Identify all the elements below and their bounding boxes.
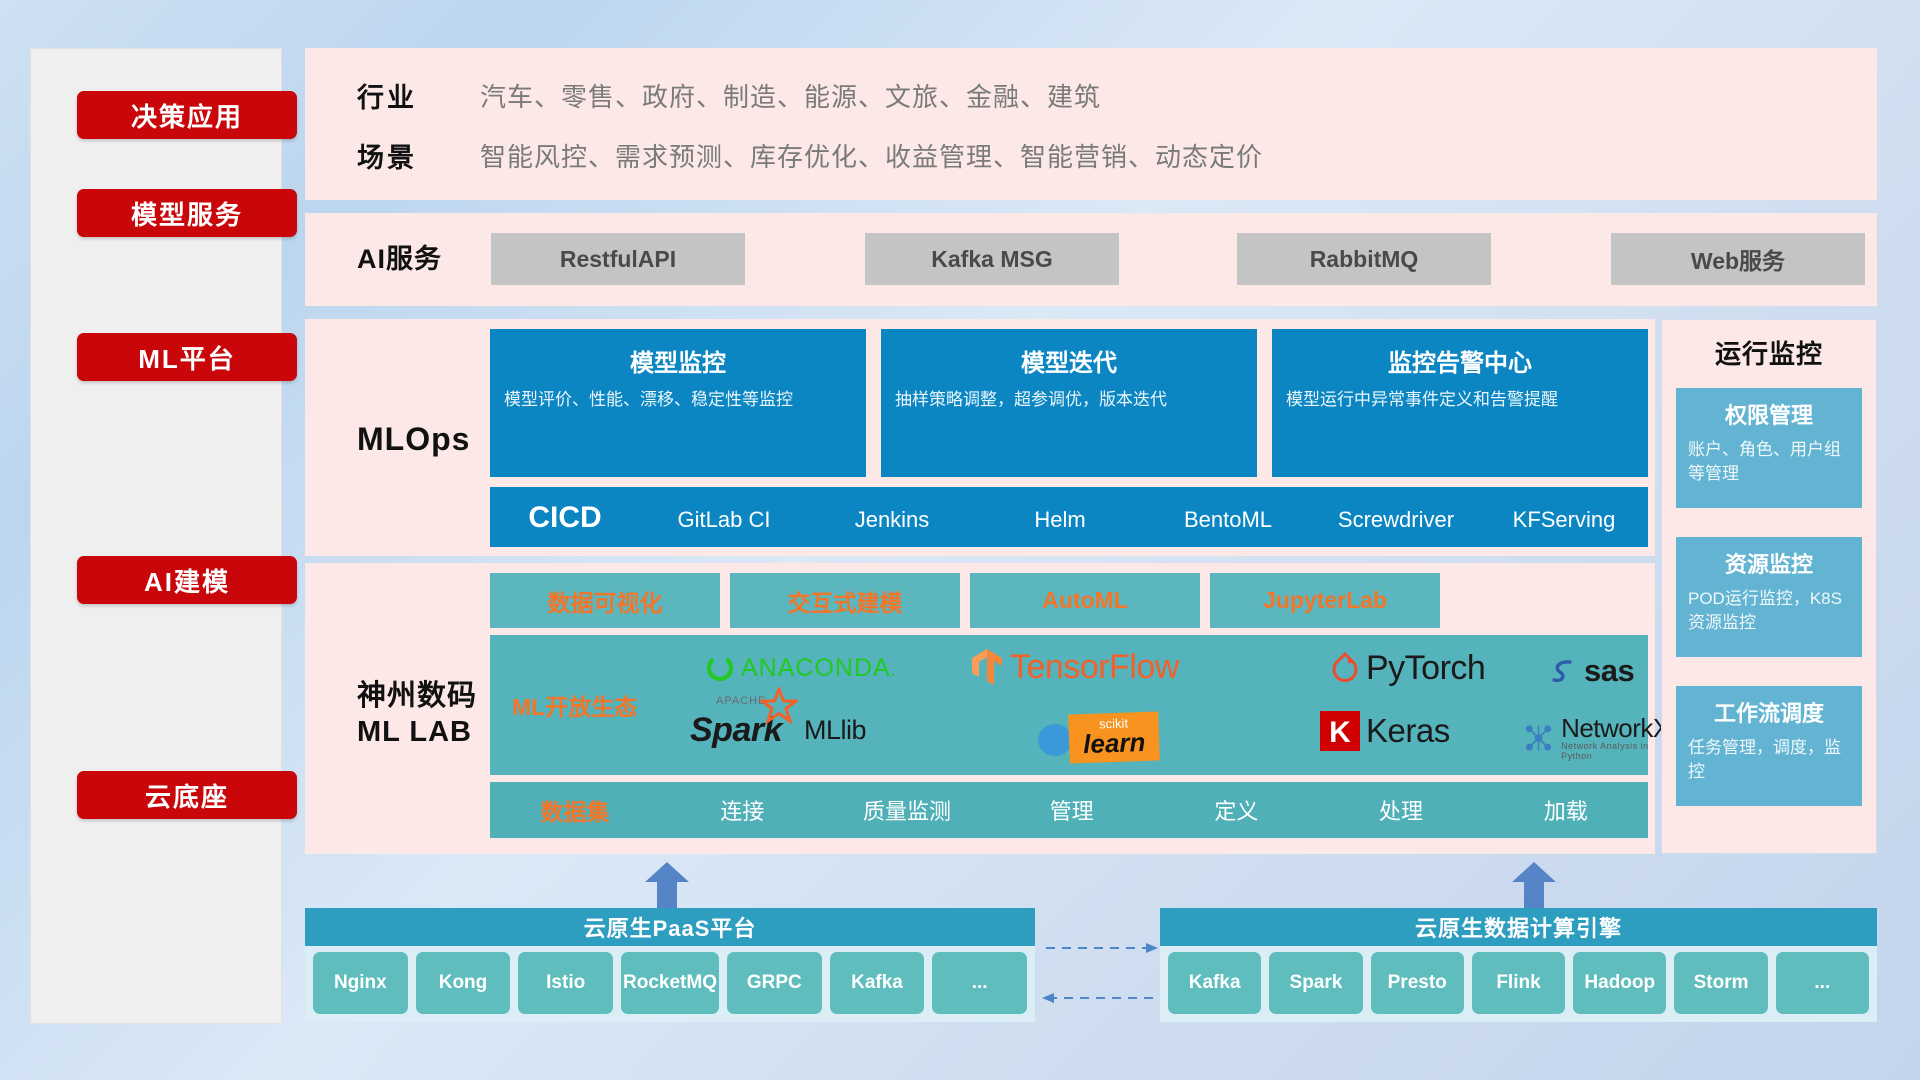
sas-logo-text: sas	[1584, 653, 1634, 689]
rail-chip-cloud-base[interactable]: 云底座	[77, 771, 297, 819]
dataset-item-define[interactable]: 定义	[1154, 794, 1319, 826]
cicd-label: CICD	[490, 487, 640, 535]
monitor-card-title: 权限管理	[1688, 398, 1850, 430]
mlops-card-desc: 抽样策略调整，超参调优，版本迭代	[895, 388, 1243, 413]
scenario-row-label: 场景	[357, 136, 417, 175]
service-box-restfulapi[interactable]: RestfulAPI	[491, 233, 745, 285]
paas-platform: 云原生PaaS平台 Nginx Kong Istio RocketMQ GRPC…	[305, 908, 1035, 1022]
paas-tag-rocketmq[interactable]: RocketMQ	[621, 952, 719, 1014]
cicd-tool-bentoml[interactable]: BentoML	[1144, 487, 1312, 535]
industry-row-label: 行业	[357, 76, 417, 115]
dataset-item-quality[interactable]: 质量监测	[825, 794, 990, 826]
mlops-card-title: 模型监控	[504, 343, 852, 378]
monitor-card-desc: 账户、角色、用户组等管理	[1688, 438, 1850, 486]
cicd-row: CICD GitLab CI Jenkins Helm BentoML Scre…	[490, 487, 1648, 547]
service-box-label: RestfulAPI	[560, 246, 676, 273]
mllib-logo-text: MLlib	[804, 715, 866, 746]
cicd-tool-helm[interactable]: Helm	[976, 487, 1144, 535]
chip-automl[interactable]: AutoML	[970, 573, 1200, 628]
keras-logo: K Keras	[1320, 711, 1450, 751]
bidirectional-dashed-link	[1040, 940, 1160, 1010]
ml-lab-label: 神州数码 ML LAB	[357, 678, 477, 751]
chip-label: JupyterLab	[1263, 587, 1387, 614]
chip-label: 数据可视化	[548, 584, 663, 618]
keras-logo-text: Keras	[1366, 712, 1450, 750]
rail-chip-label: ML平台	[138, 339, 236, 376]
apache-label: APACHE	[716, 695, 766, 707]
paas-tag-kong[interactable]: Kong	[416, 952, 511, 1014]
dataset-item-manage[interactable]: 管理	[989, 794, 1154, 826]
mlops-card-desc: 模型评价、性能、漂移、稳定性等监控	[504, 388, 852, 413]
ml-lab-label-line1: 神州数码	[357, 680, 477, 712]
paas-tag-nginx[interactable]: Nginx	[313, 952, 408, 1014]
data-engine-tag-list: Kafka Spark Presto Flink Hadoop Storm ..…	[1168, 952, 1869, 1014]
monitor-card-desc: 任务管理，调度，监控	[1688, 736, 1850, 784]
engine-tag-spark[interactable]: Spark	[1269, 952, 1362, 1014]
paas-tag-grpc[interactable]: GRPC	[727, 952, 822, 1014]
mlops-band: MLOps 模型监控 模型评价、性能、漂移、稳定性等监控 模型迭代 抽样策略调整…	[305, 319, 1655, 556]
engine-tag-flink[interactable]: Flink	[1472, 952, 1565, 1014]
scikit-learn-logo: scikit learn	[1035, 713, 1159, 762]
anaconda-logo: ANACONDA.	[705, 653, 897, 683]
chip-label: 交互式建模	[788, 584, 903, 618]
cicd-tool-kfserving[interactable]: KFServing	[1480, 487, 1648, 535]
runtime-monitor-title: 运行监控	[1662, 334, 1876, 371]
service-box-web[interactable]: Web服务	[1611, 233, 1865, 285]
ai-service-band: AI服务 RestfulAPI Kafka MSG RabbitMQ Web服务	[305, 213, 1877, 306]
chip-jupyterlab[interactable]: JupyterLab	[1210, 573, 1440, 628]
paas-tag-list: Nginx Kong Istio RocketMQ GRPC Kafka ...	[313, 952, 1027, 1014]
networkx-logo: NetworkX Network Analysis in Python	[1522, 715, 1673, 761]
engine-tag-presto[interactable]: Presto	[1371, 952, 1464, 1014]
service-box-label: Kafka MSG	[931, 246, 1052, 273]
tensorflow-logo-text: TensorFlow	[1010, 648, 1179, 687]
mlops-label: MLOps	[357, 419, 470, 459]
mlops-card-model-iteration[interactable]: 模型迭代 抽样策略调整，超参调优，版本迭代	[881, 329, 1257, 477]
pytorch-logo-text: PyTorch	[1366, 649, 1485, 688]
learn-text: learn	[1083, 730, 1146, 757]
ai-service-label: AI服务	[357, 243, 442, 277]
cicd-tool-gitlab-ci[interactable]: GitLab CI	[640, 487, 808, 535]
spark-mllib-logo: APACHE Spark MLlib	[690, 711, 866, 750]
rail-chip-ai-modeling[interactable]: AI建模	[77, 556, 297, 604]
mlops-card-alert-center[interactable]: 监控告警中心 模型运行中异常事件定义和告警提醒	[1272, 329, 1648, 477]
mlops-card-title: 模型迭代	[895, 343, 1243, 378]
mlops-card-desc: 模型运行中异常事件定义和告警提醒	[1286, 388, 1634, 413]
chip-interactive-modeling[interactable]: 交互式建模	[730, 573, 960, 628]
pytorch-logo: PyTorch	[1330, 649, 1485, 688]
monitor-card-title: 工作流调度	[1688, 696, 1850, 728]
dataset-item-connect[interactable]: 连接	[660, 794, 825, 826]
rail-chip-label: 决策应用	[131, 97, 243, 134]
chip-label: AutoML	[1042, 587, 1128, 614]
arrow-up-data-engine	[1512, 862, 1556, 913]
monitor-card-title: 资源监控	[1688, 547, 1850, 579]
engine-tag-kafka[interactable]: Kafka	[1168, 952, 1261, 1014]
data-engine-title: 云原生数据计算引擎	[1160, 908, 1877, 946]
cicd-tool-jenkins[interactable]: Jenkins	[808, 487, 976, 535]
monitor-card-resource[interactable]: 资源监控 POD运行监控，K8S资源监控	[1676, 537, 1862, 657]
networkx-logo-text: NetworkX	[1561, 715, 1673, 741]
rail-chip-ml-platform[interactable]: ML平台	[77, 333, 297, 381]
mlops-card-title: 监控告警中心	[1286, 343, 1634, 378]
scenario-row-value: 智能风控、需求预测、库存优化、收益管理、智能营销、动态定价	[480, 137, 1263, 174]
architecture-diagram: 决策应用 模型服务 ML平台 AI建模 云底座 行业 汽车、零售、政府、制造、能…	[0, 0, 1920, 1080]
paas-tag-more[interactable]: ...	[932, 952, 1027, 1014]
layer-rail: 决策应用 模型服务 ML平台 AI建模 云底座	[30, 48, 282, 1024]
rail-chip-model-service[interactable]: 模型服务	[77, 189, 297, 237]
arrow-up-paas	[645, 862, 689, 913]
paas-tag-istio[interactable]: Istio	[518, 952, 613, 1014]
monitor-card-desc: POD运行监控，K8S资源监控	[1688, 587, 1850, 635]
rail-chip-decision[interactable]: 决策应用	[77, 91, 297, 139]
ml-lab-label-line2: ML LAB	[357, 716, 472, 748]
svg-text:K: K	[1329, 716, 1351, 749]
chip-data-visualization[interactable]: 数据可视化	[490, 573, 720, 628]
dataset-label: 数据集	[490, 793, 660, 827]
rail-chip-label: 云底座	[145, 777, 229, 814]
tensorflow-logo: TensorFlow	[970, 647, 1179, 687]
dataset-item-process[interactable]: 处理	[1319, 794, 1484, 826]
service-box-kafka-msg[interactable]: Kafka MSG	[865, 233, 1119, 285]
mlops-card-model-monitoring[interactable]: 模型监控 模型评价、性能、漂移、稳定性等监控	[490, 329, 866, 477]
engine-tag-storm[interactable]: Storm	[1674, 952, 1767, 1014]
paas-tag-kafka[interactable]: Kafka	[830, 952, 925, 1014]
runtime-monitor-panel: 运行监控 权限管理 账户、角色、用户组等管理 资源监控 POD运行监控，K8S资…	[1661, 319, 1877, 854]
cicd-tool-screwdriver[interactable]: Screwdriver	[1312, 487, 1480, 535]
data-engine-platform: 云原生数据计算引擎 Kafka Spark Presto Flink Hadoo…	[1160, 908, 1877, 1022]
industry-row-value: 汽车、零售、政府、制造、能源、文旅、金融、建筑	[480, 77, 1101, 114]
monitor-card-permission[interactable]: 权限管理 账户、角色、用户组等管理	[1676, 388, 1862, 508]
anaconda-logo-text: ANACONDA.	[741, 654, 897, 683]
industry-band: 行业 汽车、零售、政府、制造、能源、文旅、金融、建筑 场景 智能风控、需求预测、…	[305, 48, 1877, 200]
service-box-rabbitmq[interactable]: RabbitMQ	[1237, 233, 1491, 285]
networkx-tagline: Network Analysis in Python	[1561, 741, 1673, 761]
service-box-label: RabbitMQ	[1310, 246, 1419, 273]
dataset-item-load[interactable]: 加载	[1483, 794, 1648, 826]
engine-tag-more[interactable]: ...	[1776, 952, 1869, 1014]
ml-open-ecosystem-label: ML开放生态	[512, 688, 637, 722]
rail-chip-label: AI建模	[144, 562, 230, 599]
ai-modeling-band: 神州数码 ML LAB 数据可视化 交互式建模 AutoML JupyterLa…	[305, 563, 1655, 854]
engine-tag-hadoop[interactable]: Hadoop	[1573, 952, 1666, 1014]
rail-chip-label: 模型服务	[131, 195, 243, 232]
sas-logo: sas	[1548, 653, 1634, 689]
paas-platform-title: 云原生PaaS平台	[305, 908, 1035, 946]
monitor-card-workflow[interactable]: 工作流调度 任务管理，调度，监控	[1676, 686, 1862, 806]
ml-open-ecosystem: ML开放生态 ANACONDA. TensorFlow PyTorch sas	[490, 635, 1648, 775]
dataset-row: 数据集 连接 质量监测 管理 定义 处理 加载	[490, 782, 1648, 838]
service-box-label: Web服务	[1691, 242, 1785, 276]
